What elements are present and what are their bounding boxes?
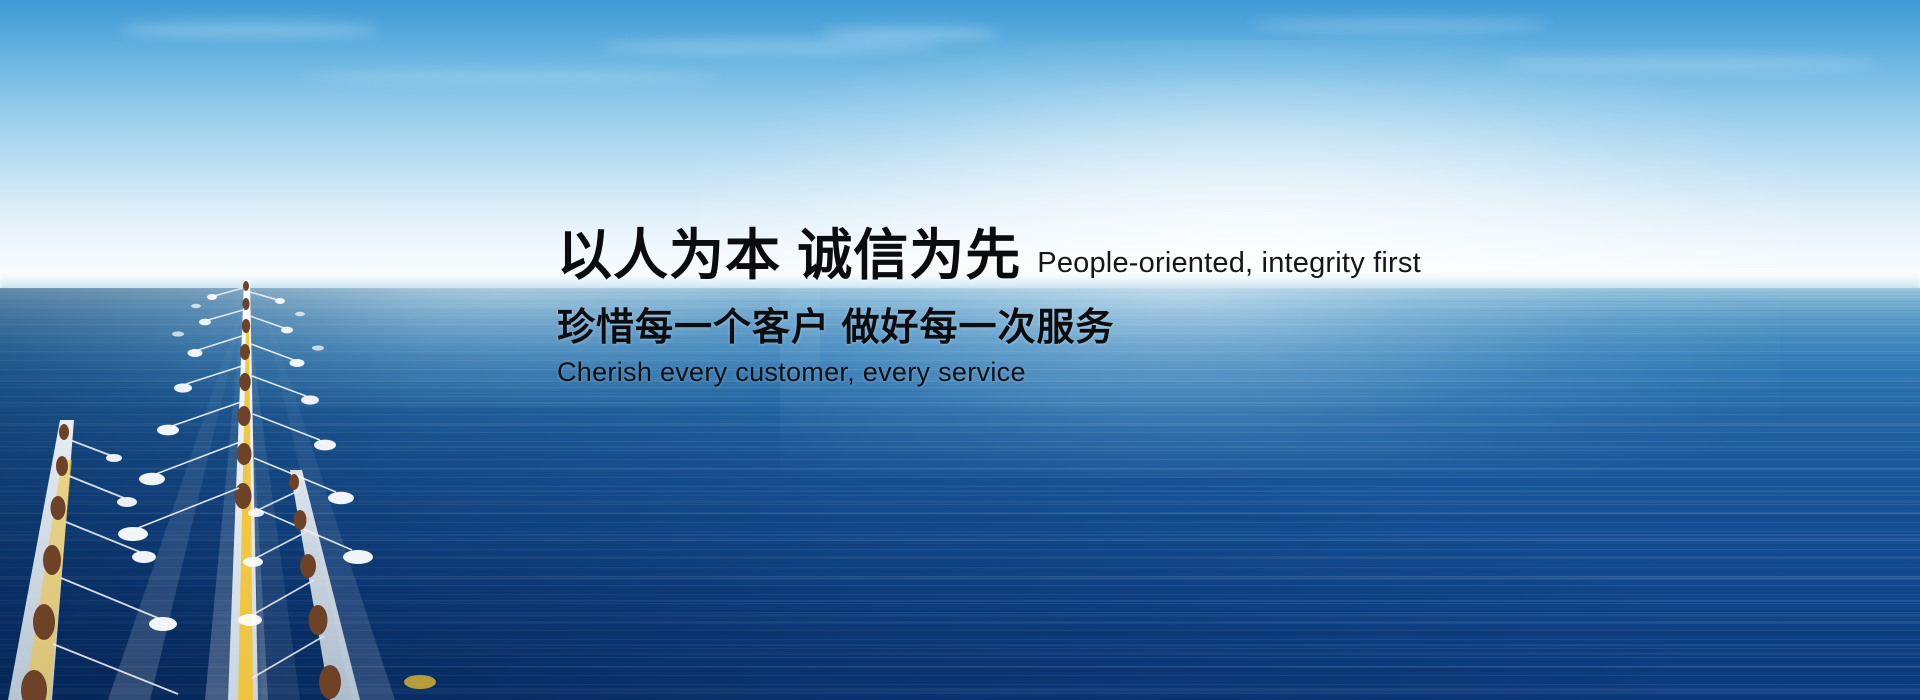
subline-chinese: 珍惜每一个客户 做好每一次服务 — [557, 309, 1757, 349]
hero-banner: 以人为本 诚信为先 People-oriented, integrity fir… — [0, 0, 1920, 700]
banner-copy: 以人为本 诚信为先 People-oriented, integrity fir… — [557, 228, 1757, 386]
headline-chinese: 以人为本 诚信为先 — [557, 228, 1021, 283]
headline-row: 以人为本 诚信为先 People-oriented, integrity fir… — [557, 228, 1757, 283]
subline-english: Cherish every customer, every service — [557, 358, 1757, 386]
headline-english: People-oriented, integrity first — [1037, 249, 1421, 278]
